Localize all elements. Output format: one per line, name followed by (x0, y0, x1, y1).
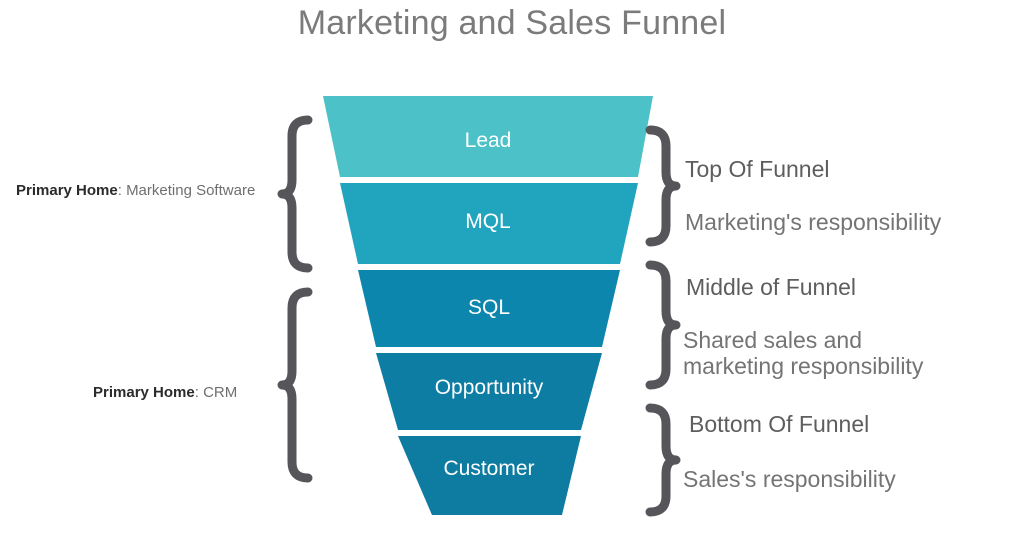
annotation-middle-of-funnel-heading: Middle of Funnel (686, 275, 923, 301)
funnel-segment-opportunity[interactable] (376, 353, 602, 430)
funnel-segment-lead[interactable] (323, 96, 653, 177)
brace-bottom-of-funnel-icon (650, 408, 676, 512)
annotation-top-of-funnel: Top Of Funnel Marketing's responsibility (685, 139, 941, 253)
funnel-segment-customer[interactable] (398, 436, 581, 515)
annotation-primary-home-crm-separator: : (195, 384, 203, 401)
annotation-bottom-of-funnel-body: Sales's responsibility (683, 466, 896, 493)
annotation-primary-home-marketing-separator: : (118, 182, 126, 199)
brace-middle-of-funnel-icon (650, 265, 676, 385)
annotation-primary-home-marketing: Primary Home: Marketing Software (16, 182, 255, 199)
annotation-primary-home-marketing-label: Primary Home (16, 182, 118, 199)
annotation-bottom-of-funnel-heading: Bottom Of Funnel (689, 412, 896, 438)
annotation-middle-of-funnel: Middle of Funnel Shared sales and market… (683, 257, 923, 398)
page-title: Marketing and Sales Funnel (0, 4, 1024, 43)
annotation-primary-home-crm-label: Primary Home (93, 384, 195, 401)
annotation-top-of-funnel-heading: Top Of Funnel (685, 157, 941, 183)
brace-primary-home-crm-icon (282, 292, 308, 478)
brace-top-of-funnel-icon (650, 130, 676, 242)
annotation-bottom-of-funnel: Bottom Of Funnel Sales's responsibility (683, 394, 896, 510)
funnel-segment-sql[interactable] (358, 270, 620, 347)
funnel-diagram-canvas: Marketing and Sales Funnel Lead MQL SQL … (0, 0, 1024, 558)
annotation-primary-home-crm: Primary Home: CRM (93, 384, 237, 401)
annotation-primary-home-marketing-value: Marketing Software (126, 182, 255, 199)
funnel-segment-mql[interactable] (340, 183, 638, 264)
annotation-top-of-funnel-body: Marketing's responsibility (685, 209, 941, 236)
annotation-middle-of-funnel-body: Shared sales and marketing responsibilit… (683, 327, 923, 380)
brace-primary-home-marketing-icon (282, 120, 308, 268)
annotation-primary-home-crm-value: CRM (203, 384, 237, 401)
